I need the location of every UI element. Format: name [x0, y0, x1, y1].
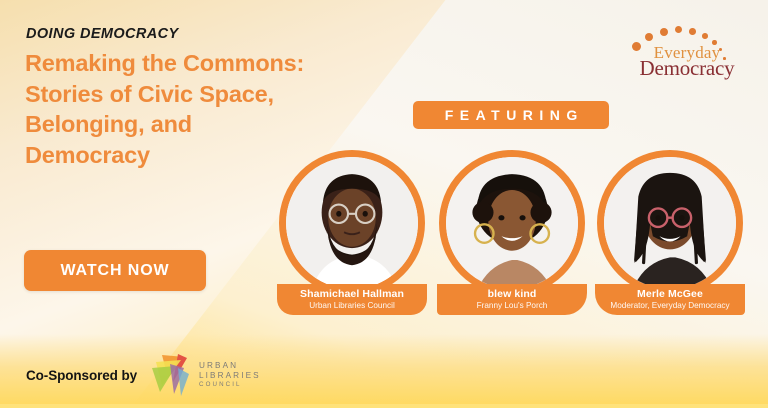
- watch-now-button[interactable]: WATCH NOW: [24, 250, 206, 291]
- speaker-org: Moderator, Everyday Democracy: [610, 301, 729, 310]
- logo-wordmark: Everyday Democracy: [628, 44, 746, 79]
- speaker-photo-merle-mcgee: [604, 157, 736, 289]
- everyday-democracy-logo: Everyday Democracy: [628, 24, 746, 86]
- speaker-card: Shamichael Hallman Urban Libraries Counc…: [276, 150, 428, 315]
- speaker-photo-shamichael-hallman: [286, 157, 418, 289]
- ulc-wordmark: URBAN LIBRARIES COUNCIL: [199, 362, 261, 389]
- eyebrow-label: DOING DEMOCRACY: [26, 26, 179, 42]
- cosponsor-block: Co-Sponsored by URBAN LIBRARIES COUNCIL: [26, 352, 261, 398]
- background-bottom-accent-line: [0, 404, 768, 408]
- urban-libraries-council-logo: URBAN LIBRARIES COUNCIL: [148, 352, 261, 398]
- ulc-mark-icon: [148, 352, 192, 398]
- speaker-name-plate: Merle McGee Moderator, Everyday Democrac…: [595, 284, 745, 315]
- speaker-name-plate: blew kind Franny Lou's Porch: [437, 284, 587, 315]
- speaker-photo-ring: [597, 150, 743, 296]
- speaker-card: blew kind Franny Lou's Porch: [436, 150, 588, 315]
- speaker-name: Merle McGee: [637, 288, 703, 300]
- ulc-word-council: COUNCIL: [199, 382, 261, 388]
- speaker-org: Urban Libraries Council: [309, 301, 395, 310]
- speaker-card: Merle McGee Moderator, Everyday Democrac…: [594, 150, 746, 315]
- ulc-word-libraries: LIBRARIES: [199, 372, 261, 380]
- headline-line-1: Remaking the Commons:: [25, 48, 355, 79]
- promo-graphic: DOING DEMOCRACY Remaking the Commons: St…: [0, 0, 768, 408]
- speaker-name: Shamichael Hallman: [300, 288, 404, 300]
- speaker-photo-ring: [279, 150, 425, 296]
- featuring-banner: FEATURING: [413, 101, 609, 129]
- speaker-photo-blew-kind: [446, 157, 578, 289]
- ulc-word-urban: URBAN: [199, 362, 261, 370]
- speaker-org: Franny Lou's Porch: [477, 301, 548, 310]
- headline-line-2: Stories of Civic Space,: [25, 79, 355, 110]
- headline-line-3: Belonging, and: [25, 109, 355, 140]
- speaker-name: blew kind: [488, 288, 537, 300]
- speaker-photo-ring: [439, 150, 585, 296]
- logo-word-democracy: Democracy: [628, 58, 746, 79]
- cosponsor-label: Co-Sponsored by: [26, 368, 137, 383]
- speaker-name-plate: Shamichael Hallman Urban Libraries Counc…: [277, 284, 427, 315]
